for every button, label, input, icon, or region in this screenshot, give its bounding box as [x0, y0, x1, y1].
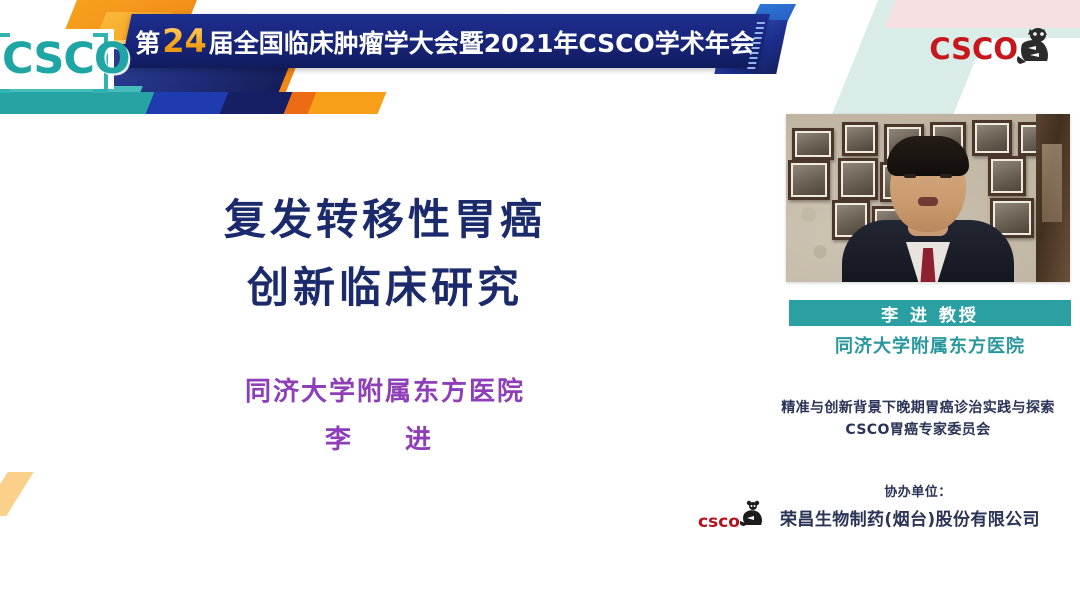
- slide-subtitle: 同济大学附属东方医院 李 进: [0, 368, 770, 464]
- wall-photo-frame: [972, 120, 1012, 156]
- sponsor-label: 协办单位：: [756, 481, 1080, 500]
- speaker-eye-left: [904, 174, 916, 178]
- sponsor-name: 荣昌生物制药(烟台)股份有限公司: [740, 505, 1080, 530]
- wall-photo-frame: [788, 160, 830, 200]
- wall-photo-frame: [838, 158, 878, 200]
- corner-decor-pink: [884, 0, 1080, 28]
- pastel-sliver-orange: [0, 472, 34, 516]
- speaker-mouth: [918, 197, 938, 206]
- decor-band-yellow: [308, 92, 387, 114]
- sponsor-logo-wordmark: csco: [698, 514, 740, 531]
- session-topic: 精准与创新背景下晚期胃癌诊治实践与探索 CSCO胃癌专家委员会: [756, 398, 1080, 441]
- slide-speaker-name: 李 进: [0, 416, 770, 464]
- speaker-video-feed[interactable]: [786, 114, 1070, 282]
- slide-title-line-1: 复发转移性胃癌: [0, 186, 770, 254]
- wall-photo-frame: [792, 128, 834, 160]
- csco-logo-wordmark: CSCO: [929, 35, 1018, 64]
- speaker-hospital: 同济大学附属东方医院: [786, 332, 1074, 358]
- video-door-edge: [1036, 114, 1070, 282]
- csco-header-logo: CSCO: [929, 26, 1052, 64]
- banner-suffix: 届全国临床肿瘤学大会暨2021年CSCO学术年会: [209, 29, 755, 58]
- slide-title-line-2: 创新临床研究: [0, 254, 770, 322]
- speaker-name-badge: 李 进 教授: [789, 300, 1071, 326]
- csco-corner-badge: CSCO: [0, 29, 114, 89]
- wall-photo-frame: [988, 156, 1026, 196]
- conference-banner: 第24届全国临床肿瘤学大会暨2021年CSCO学术年会: [120, 14, 769, 68]
- speaker-name-text: 李 进 教授: [881, 301, 979, 326]
- banner-edition-number: 24: [160, 22, 209, 60]
- csco-badge-text: CSCO: [2, 32, 106, 86]
- slide-title: 复发转移性胃癌 创新临床研究: [0, 186, 770, 322]
- session-topic-line-2: CSCO胃癌专家委员会: [756, 420, 1080, 442]
- speaker-hair: [887, 136, 969, 176]
- slide-canvas: CSCO: [0, 0, 1080, 602]
- wall-photo-frame: [842, 122, 878, 156]
- conference-banner-text: 第24届全国临床肿瘤学大会暨2021年CSCO学术年会: [135, 22, 755, 60]
- csco-tiger-mascot-icon: [1016, 26, 1052, 66]
- session-topic-line-1: 精准与创新背景下晚期胃癌诊治实践与探索: [756, 398, 1080, 420]
- speaker-eye-right: [940, 174, 952, 178]
- slide-affiliation: 同济大学附属东方医院: [0, 368, 770, 416]
- banner-prefix: 第: [135, 29, 160, 58]
